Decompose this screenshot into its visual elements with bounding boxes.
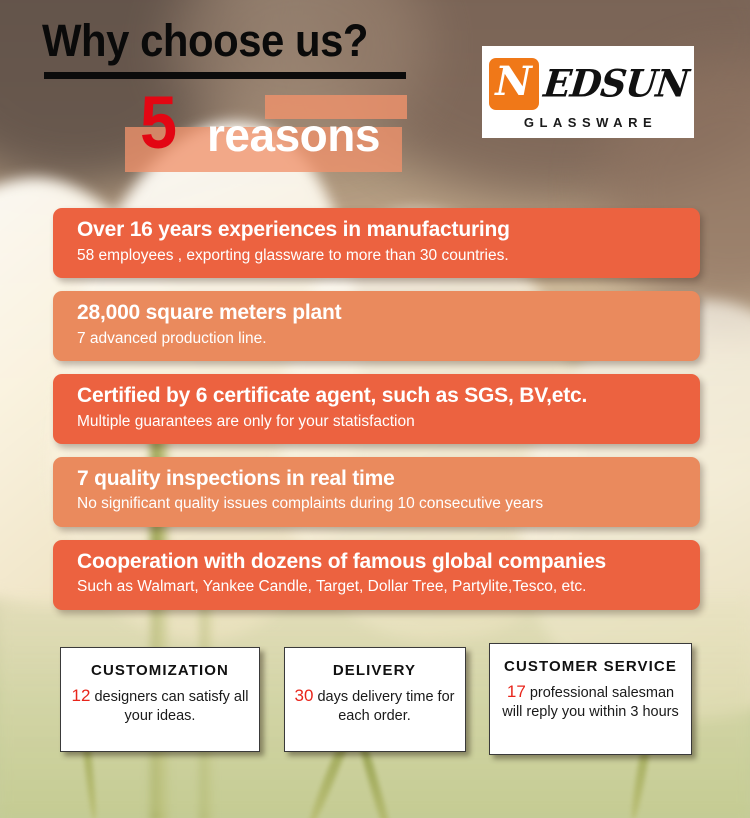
reason-title: Over 16 years experiences in manufacturi… [77,218,700,243]
card-number: 30 [295,686,314,705]
reason-bar: Cooperation with dozens of famous global… [53,540,700,610]
reasons-list: Over 16 years experiences in manufacturi… [53,208,700,623]
reason-count-label: reasons [207,112,380,158]
card-body: 17 professional salesman will reply you … [498,681,683,723]
service-card-customer-service: CUSTOMER SERVICE 17 professional salesma… [489,643,692,755]
reason-subtitle: 58 employees , exporting glassware to mo… [77,246,700,266]
reason-title: Certified by 6 certificate agent, such a… [77,384,700,409]
reason-subtitle: Multiple guarantees are only for your st… [77,412,700,432]
page-title: Why choose us? [42,18,368,63]
card-title: CUSTOMER SERVICE [498,658,683,675]
card-number: 12 [72,686,91,705]
card-title: DELIVERY [293,662,457,679]
brand-logo: N EDSUN GLASSWARE [482,46,694,138]
reason-subtitle: No significant quality issues complaints… [77,494,700,514]
reason-title: 28,000 square meters plant [77,301,700,326]
card-title: CUSTOMIZATION [69,662,251,679]
card-body: 12 designers can satisfy all your ideas. [69,685,251,727]
logo-tagline: GLASSWARE [519,115,657,130]
reason-bar: Over 16 years experiences in manufacturi… [53,208,700,278]
reason-bar: Certified by 6 certificate agent, such a… [53,374,700,444]
reason-subtitle: Such as Walmart, Yankee Candle, Target, … [77,577,700,597]
card-body: 30 days delivery time for each order. [293,685,457,727]
logo-mark-letter: N [495,62,532,102]
reason-bar: 28,000 square meters plant 7 advanced pr… [53,291,700,361]
title-underline [44,72,406,79]
card-text: professional salesman will reply you wit… [502,685,679,720]
reason-bar: 7 quality inspections in real time No si… [53,457,700,527]
service-card-customization: CUSTOMIZATION 12 designers can satisfy a… [60,647,260,752]
reason-subtitle: 7 advanced production line. [77,329,700,349]
card-text: days delivery time for each order. [313,689,454,724]
service-card-delivery: DELIVERY 30 days delivery time for each … [284,647,466,752]
logo-mark-icon: N [489,58,539,110]
infographic-page: Why choose us? 5 reasons N EDSUN GLASSWA… [0,0,750,818]
card-number: 17 [507,682,526,701]
reason-title: Cooperation with dozens of famous global… [77,550,700,575]
logo-brand-name: EDSUN [542,65,690,103]
reason-count: 5 [140,86,177,160]
card-text: designers can satisfy all your ideas. [90,689,248,724]
reason-title: 7 quality inspections in real time [77,467,700,492]
service-cards: CUSTOMIZATION 12 designers can satisfy a… [60,647,692,755]
